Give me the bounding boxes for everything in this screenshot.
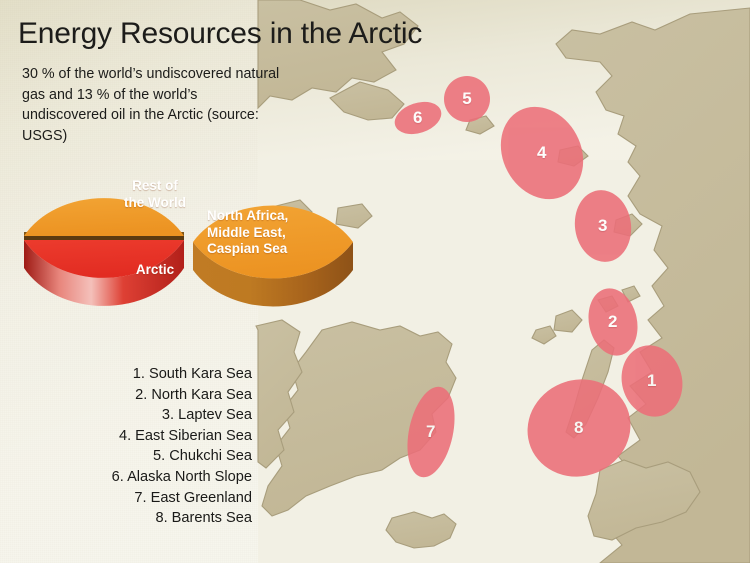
legend-list: 1. South Kara Sea 2. North Kara Sea 3. L… (0, 364, 252, 529)
map-marker-5-label: 5 (462, 89, 471, 109)
infographic-root: 1 2 3 4 5 6 7 8 Energy Resources in the … (0, 0, 750, 563)
map-marker-7-label: 7 (426, 422, 435, 442)
legend-item-4: 4. East Siberian Sea (0, 426, 252, 447)
page-subtitle: 30 % of the world’s undiscovered natural… (22, 64, 282, 146)
legend-item-8: 8. Barents Sea (0, 508, 252, 529)
map-marker-8-label: 8 (574, 418, 583, 438)
pie-right-half (193, 206, 353, 307)
legend-item-6: 6. Alaska North Slope (0, 467, 252, 488)
page-title: Energy Resources in the Arctic (18, 17, 422, 51)
map-marker-4-label: 4 (537, 143, 546, 163)
map-marker-5[interactable]: 5 (444, 76, 490, 122)
legend-item-2: 2. North Kara Sea (0, 385, 252, 406)
pie-slice-rest-top[interactable] (24, 198, 184, 236)
legend-item-1: 1. South Kara Sea (0, 364, 252, 385)
legend-item-3: 3. Laptev Sea (0, 405, 252, 426)
map-marker-6-label: 6 (413, 108, 422, 128)
legend-item-5: 5. Chukchi Sea (0, 446, 252, 467)
map-marker-3-label: 3 (598, 216, 607, 236)
pie-chart: Rest of the World Arctic North Africa, M… (22, 140, 342, 355)
legend-item-7: 7. East Greenland (0, 488, 252, 509)
map-marker-1-label: 1 (647, 371, 656, 391)
pie-left-half (24, 198, 184, 306)
map-marker-2-label: 2 (608, 312, 617, 332)
